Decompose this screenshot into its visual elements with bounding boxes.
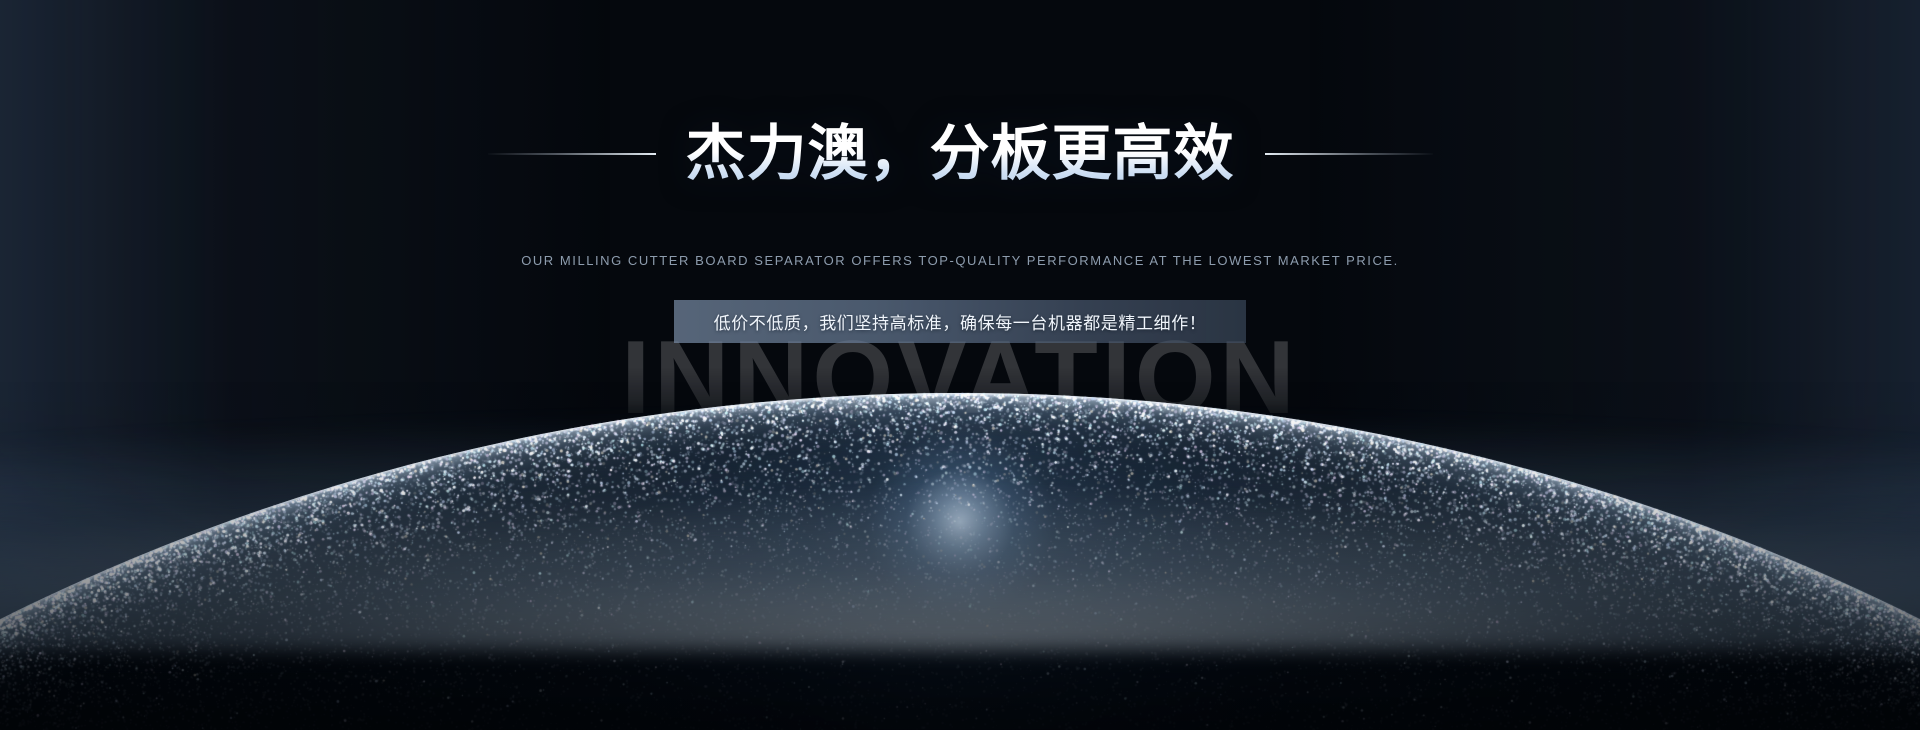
hero-content: 杰力澳，分板更高效 OUR MILLING CUTTER BOARD SEPAR… — [0, 0, 1920, 730]
headline-rule-right-icon — [1265, 153, 1433, 155]
page-title: 杰力澳，分板更高效 — [686, 122, 1235, 187]
subtitle-text: OUR MILLING CUTTER BOARD SEPARATOR OFFER… — [0, 253, 1920, 268]
hero-banner: INNOVATION 杰力澳，分板更高效 OUR MILLING CUTTER … — [0, 0, 1920, 730]
tagline-wrapper: 低价不低质，我们坚持高标准，确保每一台机器都是精工细作！ — [0, 300, 1920, 343]
headline-row: 杰力澳，分板更高效 — [0, 122, 1920, 187]
headline-rule-left-icon — [488, 153, 656, 155]
tagline-banner: 低价不低质，我们坚持高标准，确保每一台机器都是精工细作！ — [674, 300, 1246, 343]
